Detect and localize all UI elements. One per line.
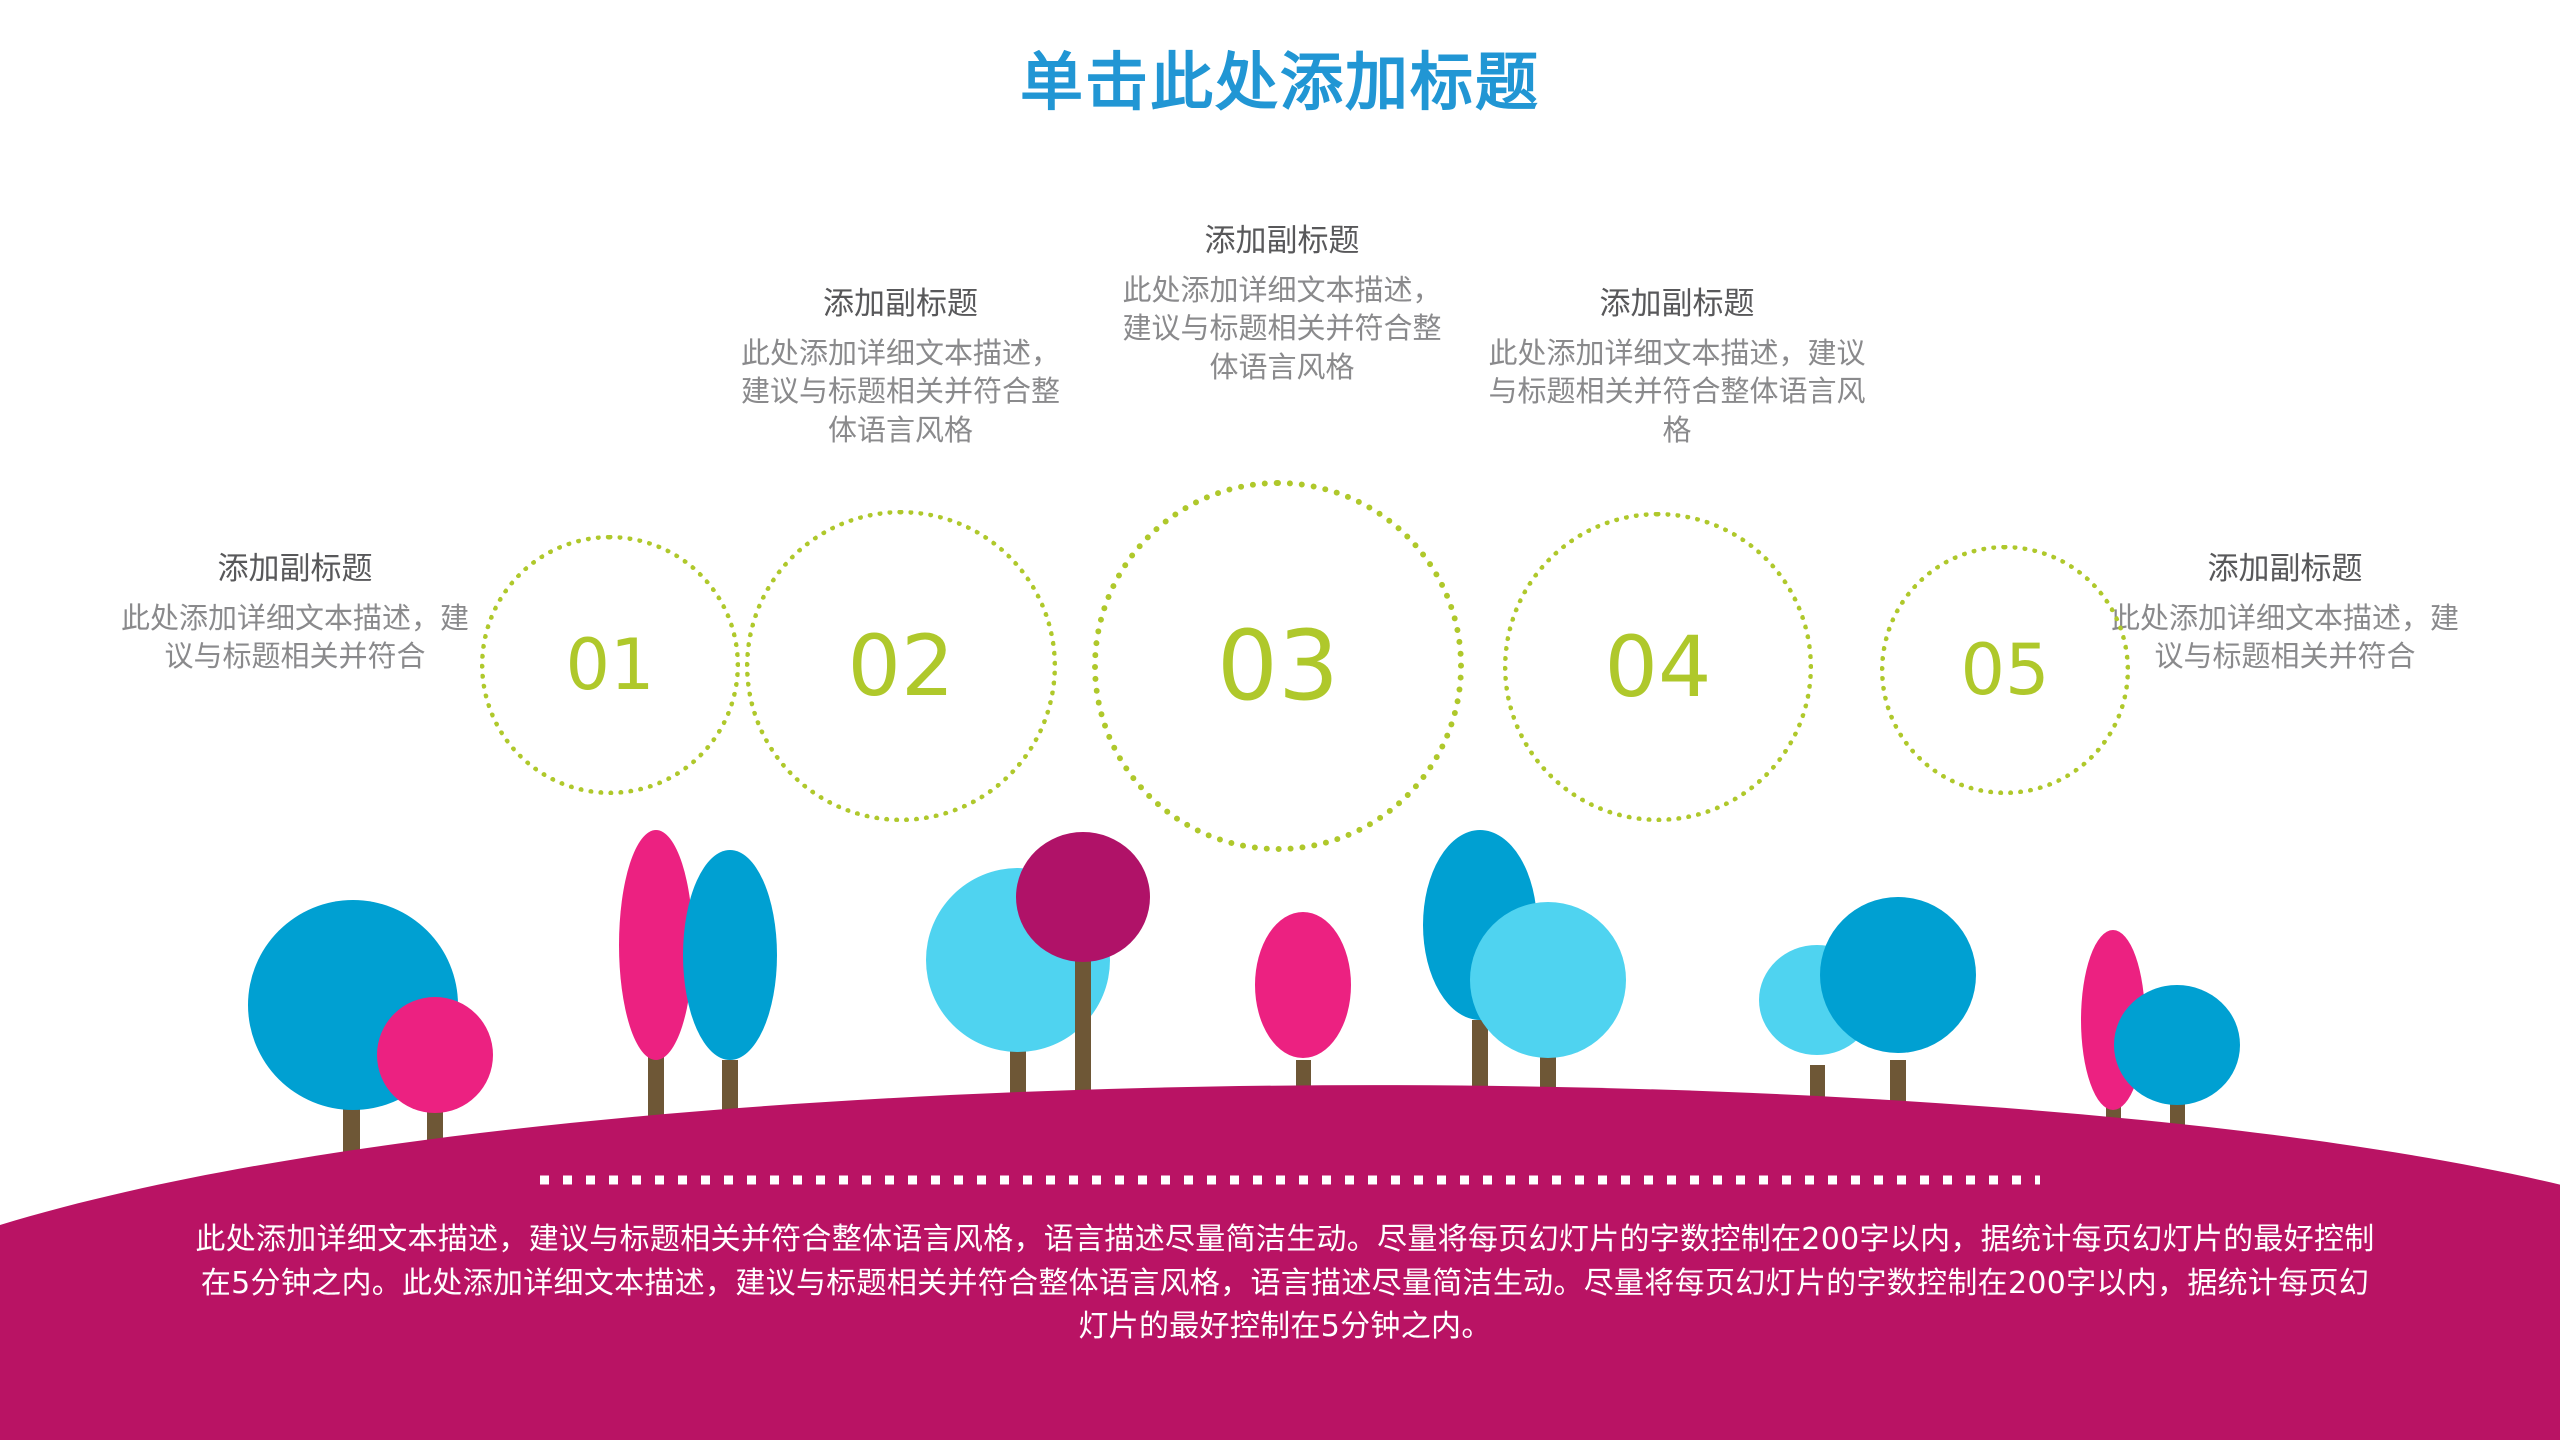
step-caption-05: 添加副标题 此处添加详细文本描述，建议与标题相关并符合 (2110, 550, 2460, 676)
caption-body: 此处添加详细文本描述，建议与标题相关并符合整体语言风格 (1112, 271, 1452, 387)
step-number: 02 (848, 624, 955, 708)
bottom-description-text: 此处添加详细文本描述，建议与标题相关并符合整体语言风格，语言描述尽量简洁生动。尽… (195, 1218, 2375, 1349)
tree-crown-cyan (2114, 985, 2240, 1105)
tree-crown-pink (377, 997, 493, 1113)
tree-crown-cyan (1820, 897, 1976, 1053)
tree-crown-darkmagenta (1016, 832, 1150, 962)
caption-title: 添加副标题 (110, 550, 480, 589)
tree-crown-lightcyan (1470, 902, 1626, 1058)
step-circle-03[interactable]: 03 (1092, 480, 1464, 852)
caption-body: 此处添加详细文本描述，建议与标题相关并符合整体语言风格 (728, 334, 1073, 450)
caption-title: 添加副标题 (1482, 285, 1872, 324)
step-number: 03 (1217, 618, 1339, 714)
caption-body: 此处添加详细文本描述，建议与标题相关并符合 (110, 599, 480, 676)
slide-canvas: 单击此处添加标题 (0, 0, 2560, 1440)
caption-body: 此处添加详细文本描述，建议与标题相关并符合 (2110, 599, 2460, 676)
tree-crown-pink-oval (1255, 912, 1351, 1058)
tree-crown-pink-oval (619, 830, 693, 1060)
caption-body: 此处添加详细文本描述，建议与标题相关并符合整体语言风格 (1482, 334, 1872, 450)
step-caption-02: 添加副标题 此处添加详细文本描述，建议与标题相关并符合整体语言风格 (728, 285, 1073, 449)
step-caption-01: 添加副标题 此处添加详细文本描述，建议与标题相关并符合 (110, 550, 480, 676)
step-circle-04[interactable]: 04 (1503, 512, 1813, 822)
step-number: 01 (565, 630, 654, 700)
caption-title: 添加副标题 (2110, 550, 2460, 589)
tree-crown-cyan-oval (683, 850, 777, 1060)
caption-title: 添加副标题 (728, 285, 1073, 324)
step-circle-05[interactable]: 05 (1880, 545, 2130, 795)
step-number: 05 (1960, 635, 2049, 705)
step-number: 04 (1605, 625, 1712, 709)
step-caption-04: 添加副标题 此处添加详细文本描述，建议与标题相关并符合整体语言风格 (1482, 285, 1872, 449)
step-circle-02[interactable]: 02 (745, 510, 1057, 822)
step-circle-01[interactable]: 01 (480, 535, 740, 795)
step-caption-03: 添加副标题 此处添加详细文本描述，建议与标题相关并符合整体语言风格 (1112, 222, 1452, 386)
caption-title: 添加副标题 (1112, 222, 1452, 261)
